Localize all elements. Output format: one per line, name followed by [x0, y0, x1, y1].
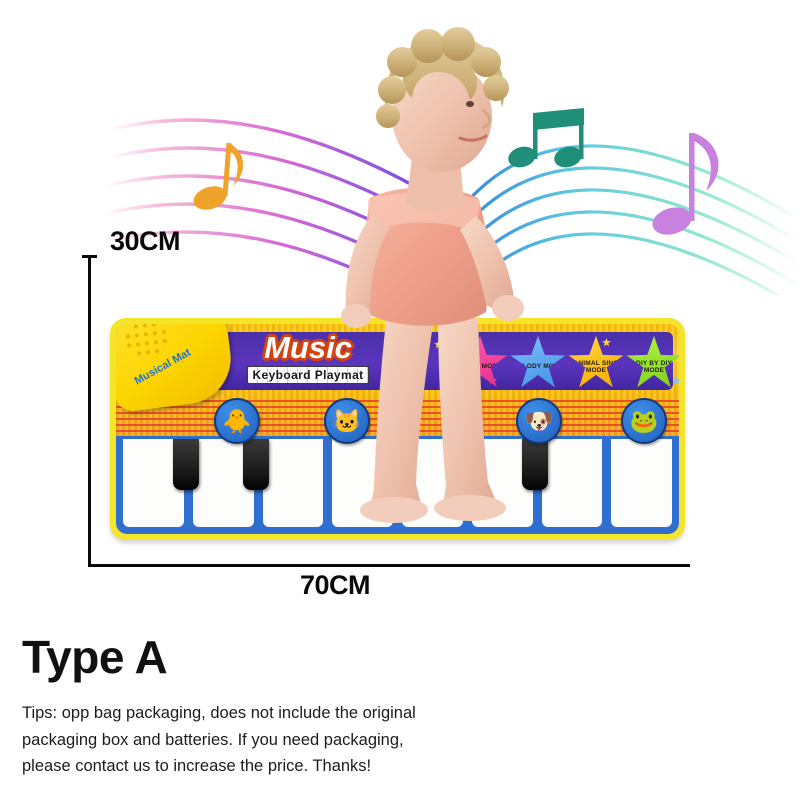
- width-dimension-line: [88, 564, 690, 567]
- height-dimension-line: [88, 255, 91, 567]
- music-staff-right: [450, 95, 800, 295]
- speaker-grill-icon: [122, 324, 172, 359]
- black-key[interactable]: [243, 439, 269, 490]
- red-eighth-note: [450, 223, 474, 281]
- height-dimension-cap: [82, 255, 97, 258]
- purple-eighth-note: [649, 133, 718, 239]
- piano-keyboard: [120, 436, 675, 530]
- width-label: 70CM: [300, 570, 370, 601]
- black-key[interactable]: [173, 439, 199, 490]
- tips-line-2: packaging box and batteries. If you need…: [22, 727, 542, 754]
- logo-title: Music: [228, 332, 388, 363]
- playmat-wave-stripes: [116, 400, 679, 436]
- tips-line-3: please contact us to increase the price.…: [22, 753, 542, 780]
- cat-icon[interactable]: 🐱: [324, 398, 370, 444]
- white-key[interactable]: [539, 436, 606, 530]
- white-key[interactable]: [120, 436, 187, 530]
- black-key[interactable]: [522, 439, 548, 490]
- tips-line-1: Tips: opp bag packaging, does not includ…: [22, 700, 542, 727]
- white-key[interactable]: [399, 436, 466, 530]
- height-label: 30CM: [110, 226, 180, 257]
- frog-icon[interactable]: 🐸: [621, 398, 667, 444]
- white-key[interactable]: [190, 436, 257, 530]
- dog-icon[interactable]: 🐶: [516, 398, 562, 444]
- duck-icon[interactable]: 🐥: [214, 398, 260, 444]
- white-key[interactable]: [469, 436, 536, 530]
- product-image-canvas: 30CM 70CM Music Keyboard Playmat PIANO M…: [0, 0, 800, 800]
- black-key[interactable]: [382, 439, 408, 490]
- white-key[interactable]: [260, 436, 327, 530]
- music-staff-left: [100, 100, 430, 310]
- product-logo: Music Keyboard Playmat: [228, 332, 388, 384]
- page-title: Type A: [22, 630, 167, 684]
- black-key[interactable]: [452, 439, 478, 490]
- piano-playmat: Music Keyboard Playmat PIANO MODE MELODY…: [110, 318, 685, 540]
- orange-eighth-note: [190, 143, 243, 214]
- logo-subtitle: Keyboard Playmat: [247, 366, 368, 384]
- white-key[interactable]: [329, 436, 396, 530]
- white-key[interactable]: [608, 436, 675, 530]
- tips-note: Tips: opp bag packaging, does not includ…: [22, 700, 542, 780]
- playmat-inner: Music Keyboard Playmat PIANO MODE MELODY…: [116, 324, 679, 534]
- teal-beamed-notes: [506, 108, 584, 170]
